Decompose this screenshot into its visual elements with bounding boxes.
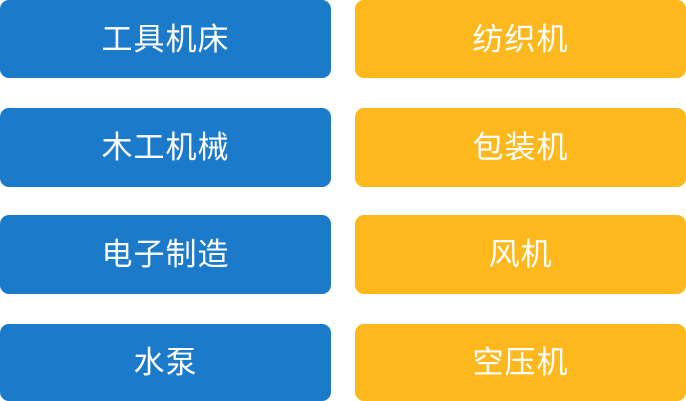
category-button-machine-tools[interactable]: 工具机床 — [0, 0, 331, 78]
category-button-woodworking-machinery[interactable]: 木工机械 — [0, 108, 331, 187]
column-gutter — [331, 215, 355, 294]
category-button-label: 空压机 — [473, 347, 569, 378]
category-button-textile-machine[interactable]: 纺织机 — [355, 0, 686, 78]
column-gutter — [331, 108, 355, 187]
category-button-label: 电子制造 — [102, 239, 230, 270]
column-gutter — [331, 0, 355, 78]
category-button-label: 工具机床 — [102, 24, 230, 55]
category-button-packaging-machine[interactable]: 包装机 — [355, 108, 686, 187]
category-button-label: 木工机械 — [102, 132, 230, 163]
category-button-label: 水泵 — [134, 347, 198, 378]
category-button-water-pump[interactable]: 水泵 — [0, 324, 331, 401]
column-gutter — [331, 324, 355, 401]
category-button-label: 纺织机 — [473, 24, 569, 55]
category-button-electronics-manufacturing[interactable]: 电子制造 — [0, 215, 331, 294]
category-button-label: 包装机 — [473, 132, 569, 163]
category-button-grid: 工具机床 纺织机 木工机械 包装机 电子制造 风机 水泵 空压机 — [0, 0, 686, 401]
category-button-air-compressor[interactable]: 空压机 — [355, 324, 686, 401]
category-button-fan-blower[interactable]: 风机 — [355, 215, 686, 294]
category-button-label: 风机 — [489, 239, 553, 270]
